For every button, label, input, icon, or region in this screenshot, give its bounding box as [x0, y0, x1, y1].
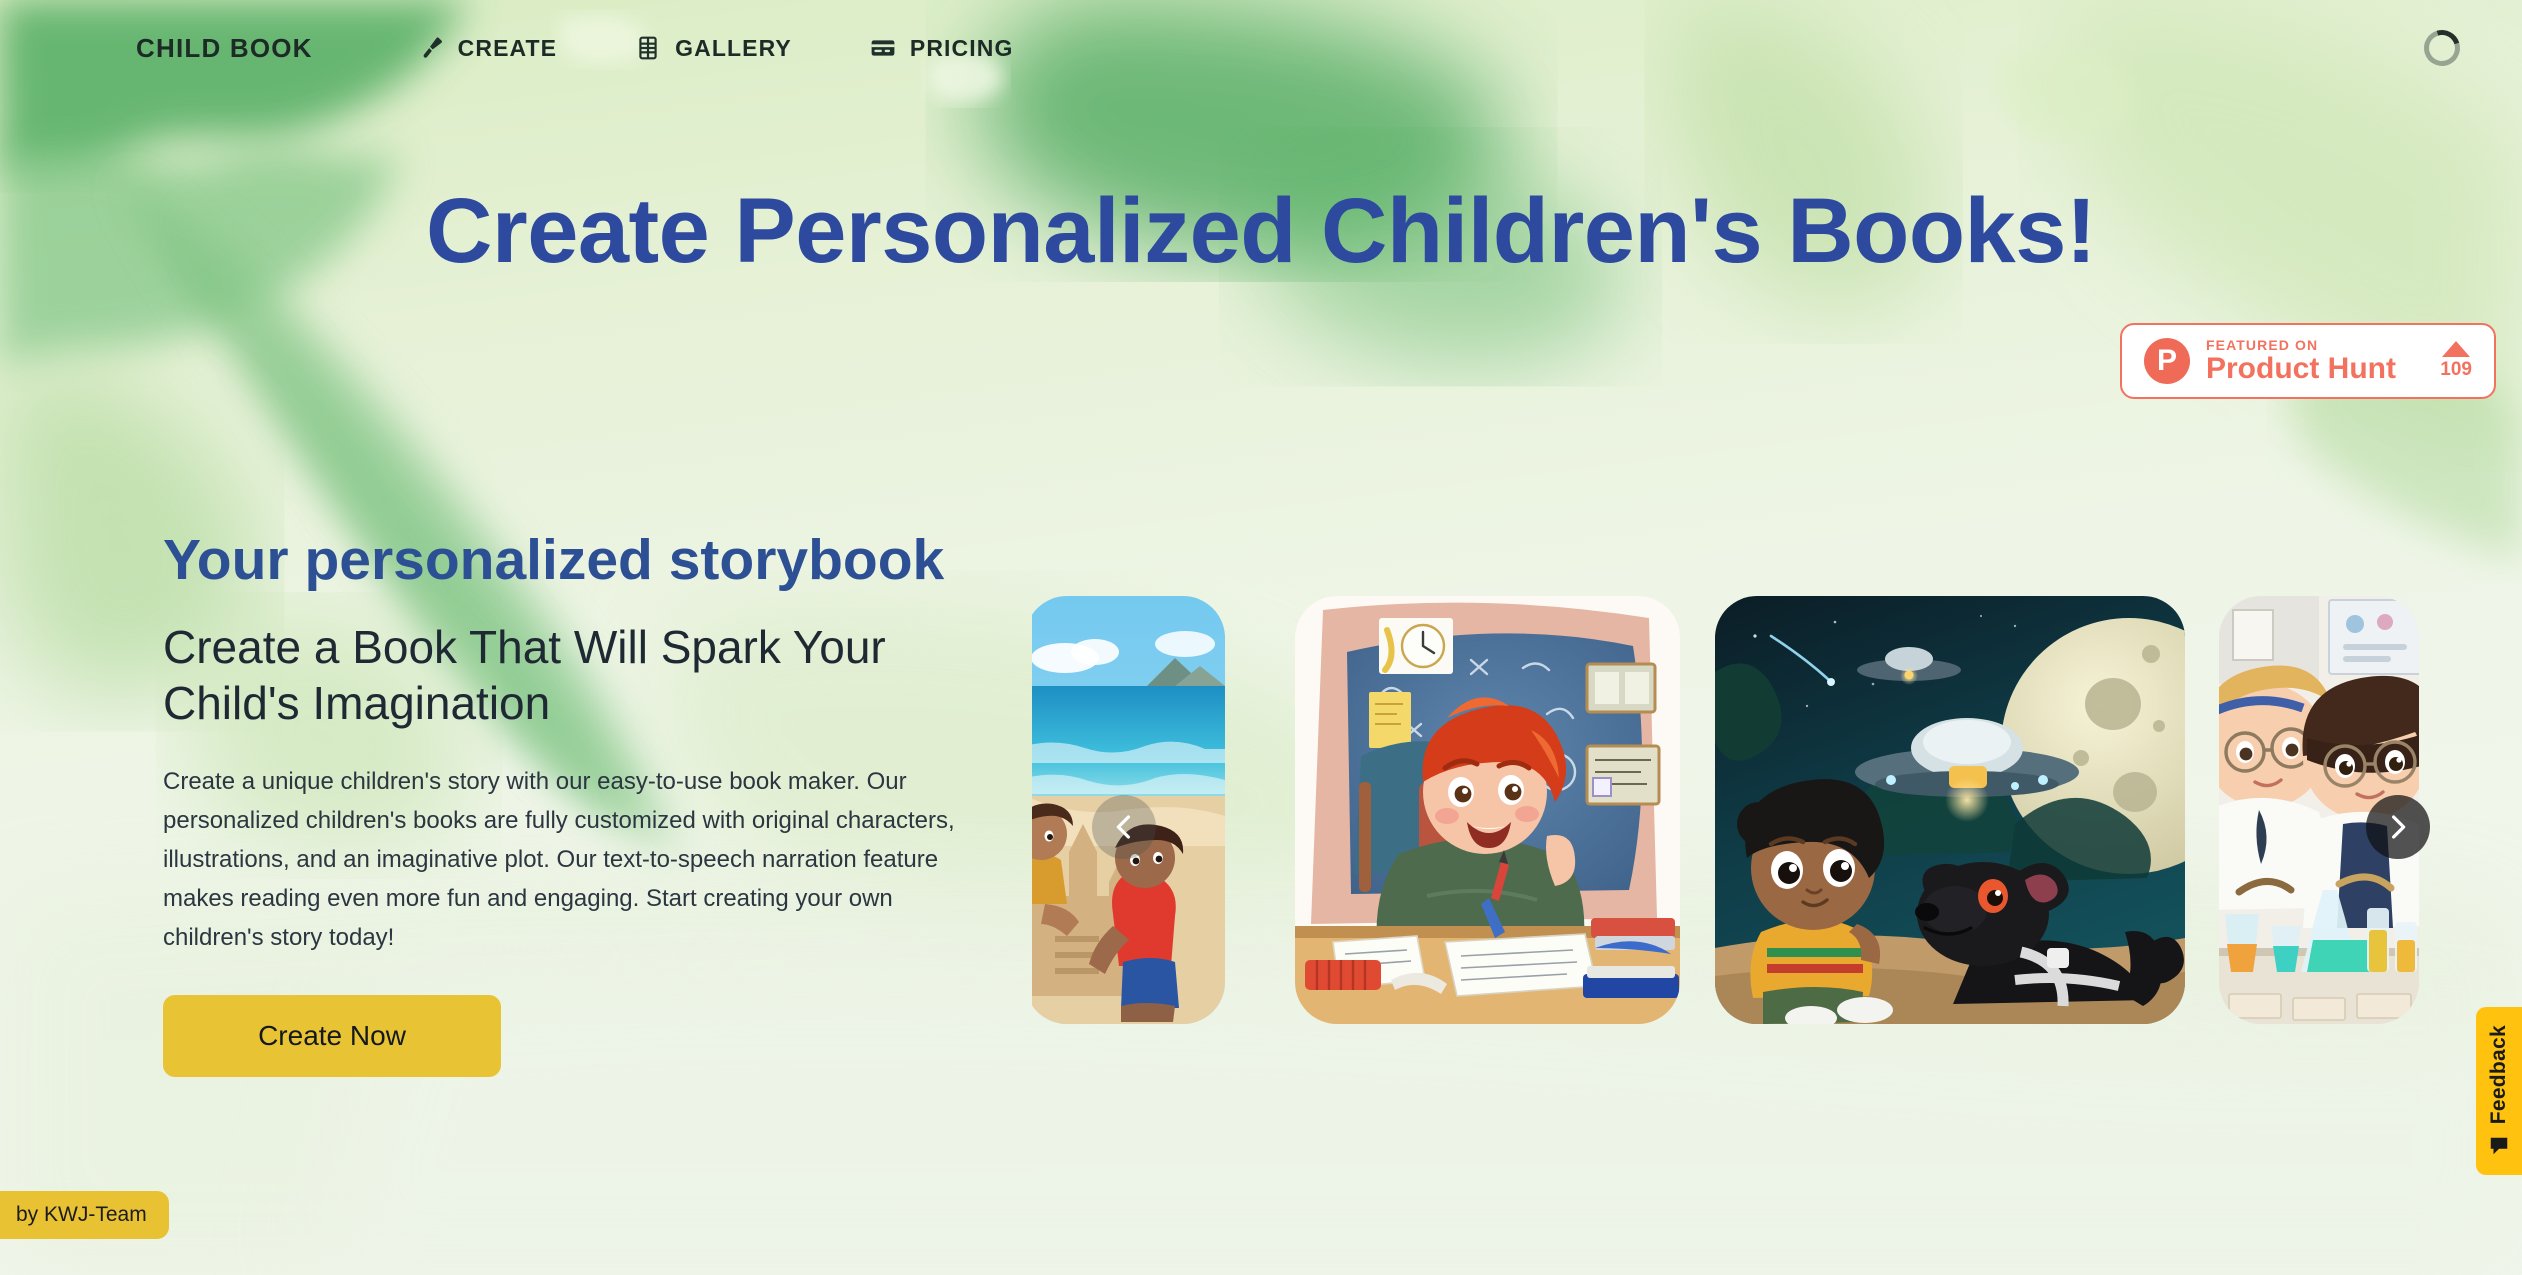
nav-label-pricing: PRICING [910, 35, 1014, 62]
product-hunt-upvote[interactable]: 109 [2440, 341, 2472, 381]
page-title: Create Personalized Children's Books! [0, 182, 2522, 281]
credit-badge[interactable]: by KWJ-Team [0, 1191, 169, 1239]
nav-item-create[interactable]: CREATE [418, 35, 557, 62]
nav-label-create: CREATE [458, 35, 557, 62]
carousel-next-arrow[interactable] [2366, 795, 2430, 859]
feedback-label: Feedback [2487, 1025, 2511, 1124]
chevron-left-icon [1109, 812, 1139, 842]
paintbrush-icon [418, 35, 444, 61]
hero-paragraph: Create a unique children's story with ou… [163, 763, 963, 957]
product-hunt-badge[interactable]: P FEATURED ON Product Hunt 109 [2120, 323, 2496, 399]
carousel-slide-classroom[interactable] [1295, 596, 1680, 1024]
upvote-count: 109 [2440, 359, 2472, 381]
product-hunt-featured-label: FEATURED ON [2206, 337, 2424, 353]
loading-spinner-icon [2418, 24, 2467, 73]
carousel-track [1032, 590, 2522, 1030]
nav-label-gallery: GALLERY [675, 35, 792, 62]
chevron-right-icon [2383, 812, 2413, 842]
nav-links: CREATE GALLERY PRIC [418, 35, 1014, 62]
product-hunt-name: Product Hunt [2206, 353, 2424, 385]
story-carousel[interactable] [1032, 590, 2522, 1030]
nav-item-pricing[interactable]: PRICING [870, 35, 1014, 62]
speech-bubble-icon [2488, 1135, 2510, 1157]
product-hunt-text: FEATURED ON Product Hunt [2206, 337, 2424, 385]
brand-logo[interactable]: CHILD BOOK [136, 33, 313, 64]
carousel-slide-space[interactable] [1715, 596, 2185, 1024]
hero-text-column: Your personalized storybook Create a Boo… [163, 528, 963, 1077]
hero-eyebrow: Your personalized storybook [163, 528, 963, 593]
carousel-prev-arrow[interactable] [1092, 795, 1156, 859]
create-now-button[interactable]: Create Now [163, 995, 501, 1077]
product-hunt-logo-icon: P [2144, 338, 2190, 384]
credit-card-icon [870, 35, 896, 61]
feedback-tab[interactable]: Feedback [2476, 1007, 2522, 1175]
top-navbar: CHILD BOOK CREATE GALLERY [0, 0, 2522, 96]
nav-item-gallery[interactable]: GALLERY [635, 35, 792, 62]
upvote-triangle-icon [2442, 341, 2470, 357]
hero-title: Create a Book That Will Spark Your Child… [163, 619, 963, 731]
gallery-grid-icon [635, 35, 661, 61]
